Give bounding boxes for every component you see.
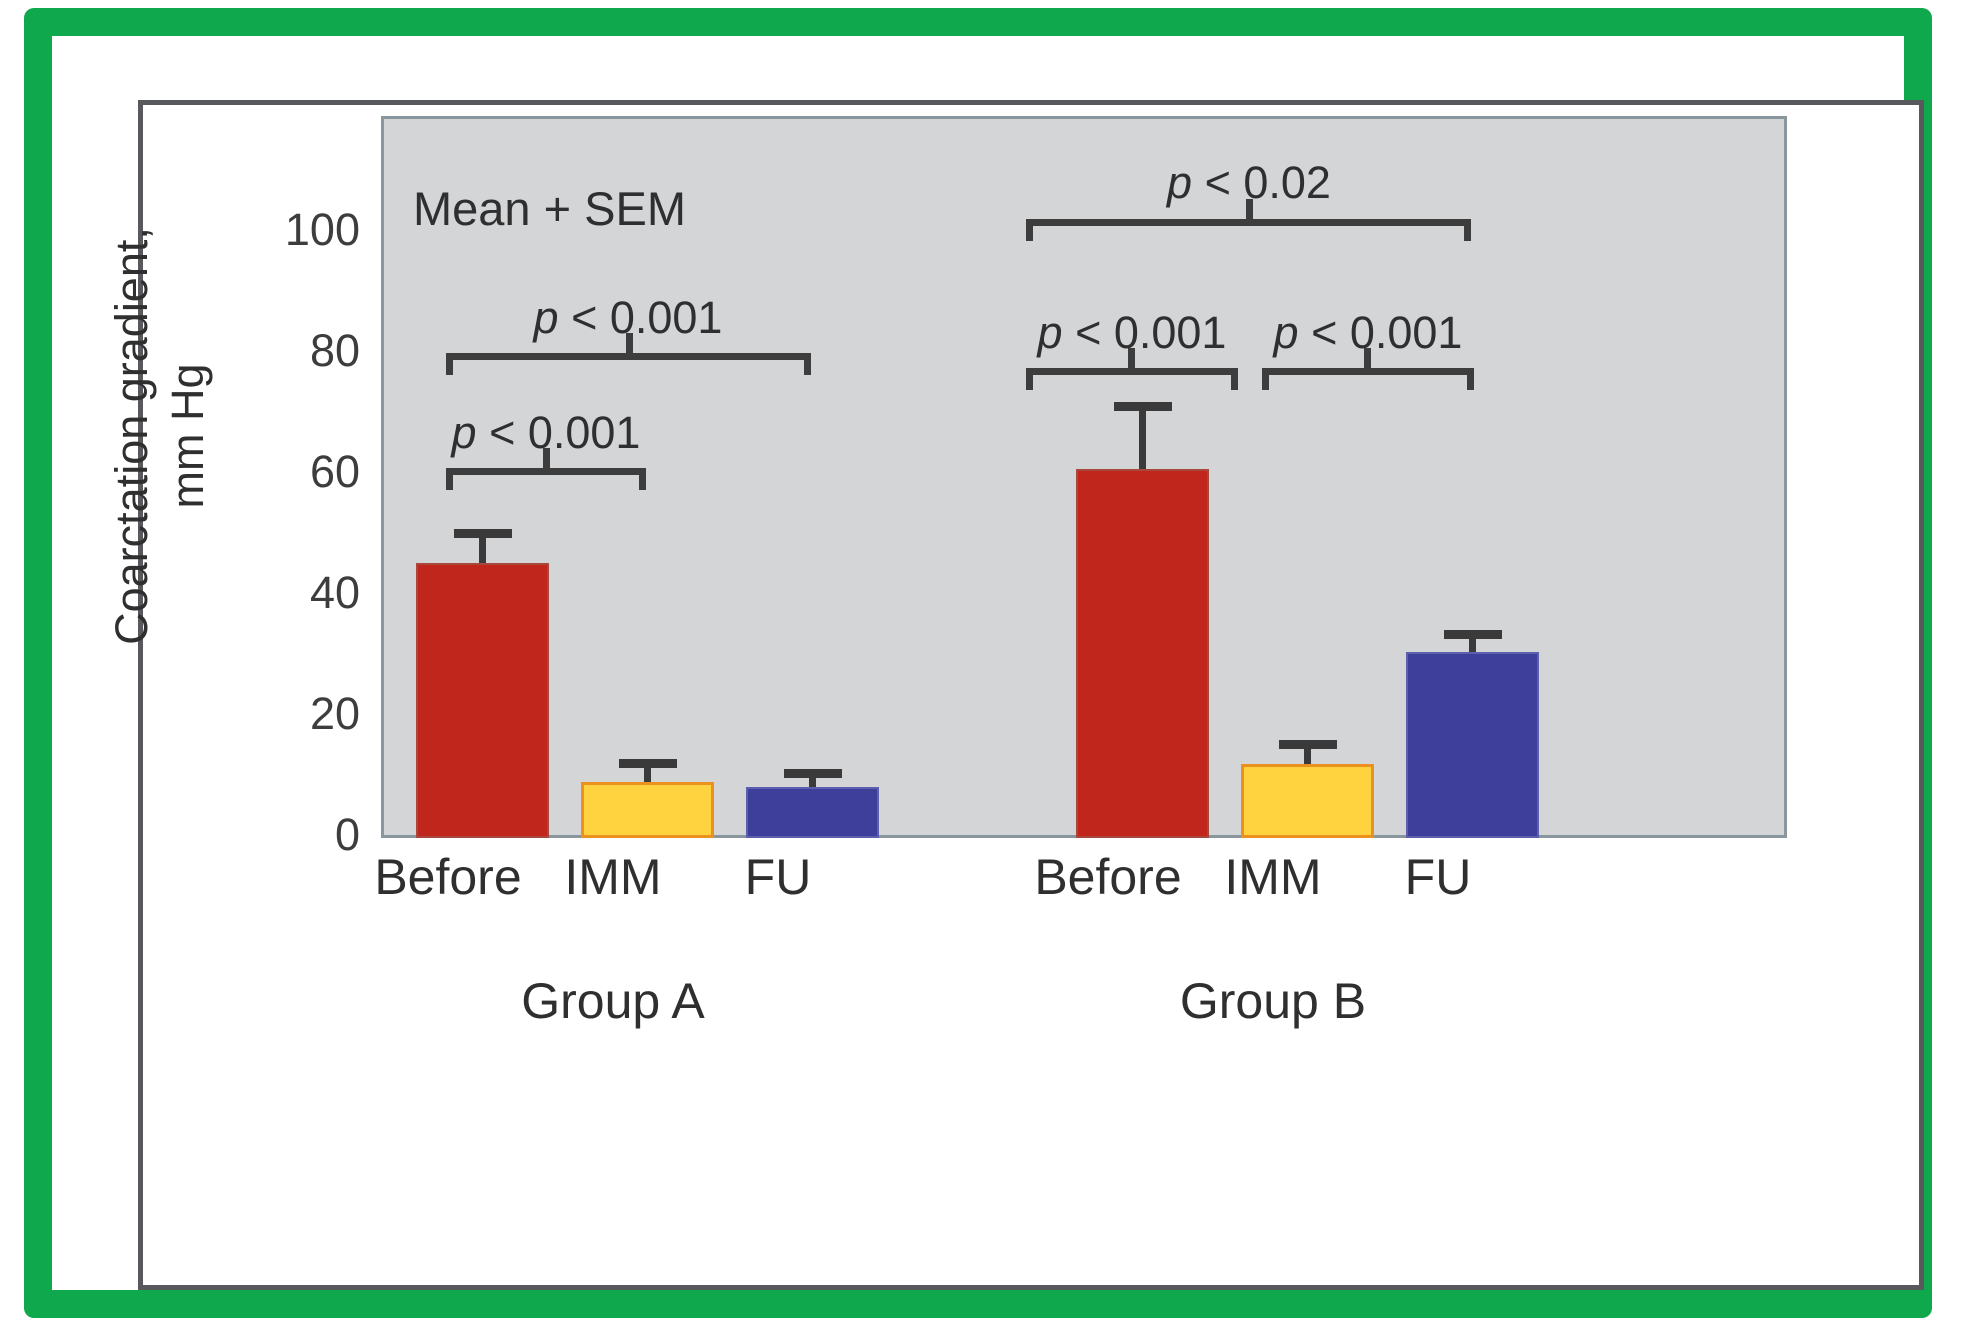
y-tick-label-20: 20 xyxy=(240,691,360,736)
bar-group-a-fu xyxy=(746,787,879,838)
error-bar-line-group-b-before xyxy=(1139,407,1146,469)
figure-page: Coarctation gradient, mm Hg 100 80 60 40… xyxy=(0,0,1963,1332)
error-bar-cap-group-b-fu xyxy=(1444,630,1502,639)
error-bar-cap-group-b-before xyxy=(1114,402,1172,411)
y-axis-title-line2: mm Hg xyxy=(160,156,216,716)
y-tick-label-60: 60 xyxy=(240,449,360,494)
p-value-label-a-before-imm: p < 0.001 xyxy=(366,407,726,459)
bar-group-a-imm xyxy=(581,782,714,838)
p-value-label-a-before-fu: p < 0.001 xyxy=(448,292,808,344)
plot-area: Mean + SEM xyxy=(381,116,1787,838)
error-bar-cap-group-b-imm xyxy=(1279,740,1337,749)
error-bar-line-group-a-before xyxy=(479,534,486,563)
p-value-label-b-imm-fu: p < 0.001 xyxy=(1192,307,1544,359)
group-label-a: Group A xyxy=(453,972,773,1030)
y-tick-label-40: 40 xyxy=(240,570,360,615)
error-bar-cap-group-a-before xyxy=(454,529,512,538)
error-bar-cap-group-a-imm xyxy=(619,759,677,768)
bar-group-a-before xyxy=(416,563,549,838)
y-axis-title: Coarctation gradient, mm Hg xyxy=(104,156,216,716)
group-label-b: Group B xyxy=(1113,972,1433,1030)
y-tick-label-100: 100 xyxy=(240,207,360,252)
p-value-label-b-before-fu: p < 0.02 xyxy=(1074,157,1424,209)
x-tick-label-a-fu: FU xyxy=(618,848,938,906)
bar-group-b-imm xyxy=(1241,764,1374,838)
x-tick-label-b-fu: FU xyxy=(1278,848,1598,906)
bar-group-b-before xyxy=(1076,469,1209,838)
bar-chart-figure: Coarctation gradient, mm Hg 100 80 60 40… xyxy=(0,0,1963,1332)
mean-sem-annotation: Mean + SEM xyxy=(413,181,686,236)
y-tick-label-80: 80 xyxy=(240,328,360,373)
y-axis-title-line1: Coarctation gradient, xyxy=(104,156,160,716)
error-bar-cap-group-a-fu xyxy=(784,769,842,778)
bar-group-b-fu xyxy=(1406,652,1539,838)
